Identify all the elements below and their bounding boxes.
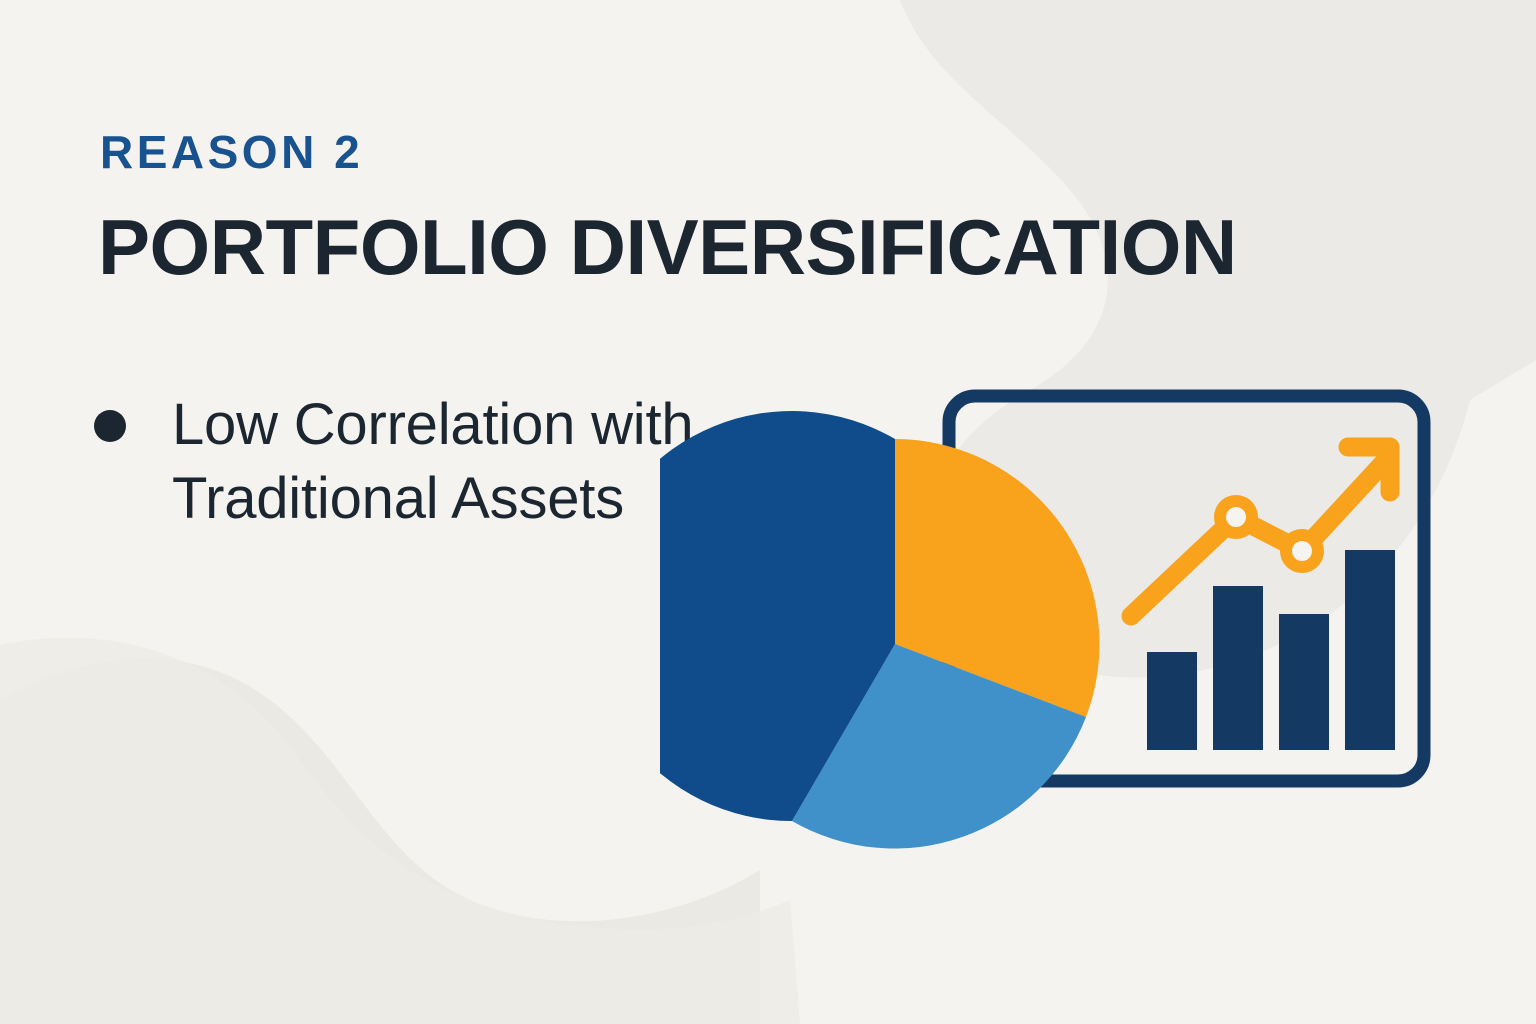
list-item-label: Low Correlation with Traditional Assets [172,388,714,536]
trend-marker-1-hole [1226,507,1246,527]
blob-bottom-left-icon [0,659,760,1024]
diversification-illustration [660,360,1480,880]
bar-4 [1345,550,1395,750]
list-item: Low Correlation with Traditional Assets [94,388,714,536]
bar-3 [1279,614,1329,750]
slide-canvas: REASON 2 PORTFOLIO DIVERSIFICATION Low C… [0,0,1536,1024]
bar-group [1147,550,1395,750]
bar-1 [1147,652,1197,750]
pie-chart-icon [660,411,1099,849]
trend-marker-2-hole [1292,541,1312,561]
bullet-dot-icon [94,410,126,442]
page-title: PORTFOLIO DIVERSIFICATION [98,207,1237,289]
bar-2 [1213,586,1263,750]
eyebrow-label: REASON 2 [100,129,363,175]
